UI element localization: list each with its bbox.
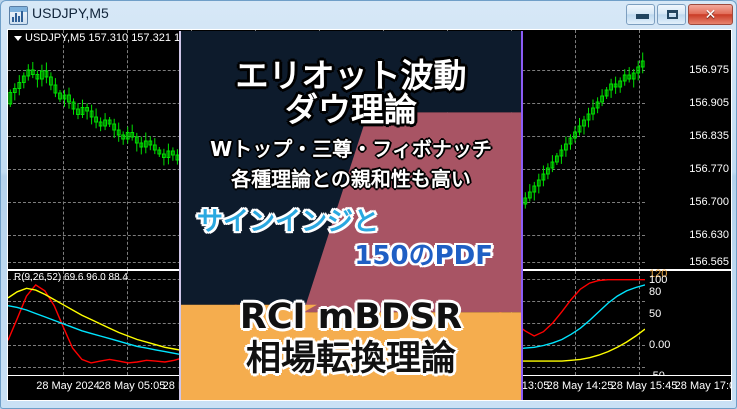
overlay-feature-1: サインインジと bbox=[181, 209, 521, 236]
price-tick-label: 156.700 bbox=[689, 196, 729, 208]
indicator-tick-label: 80 bbox=[649, 286, 661, 298]
time-tick-label: 28 May 15:45 bbox=[611, 380, 678, 392]
time-tick-label: 28 May 14:25 bbox=[547, 380, 614, 392]
chart-client-area[interactable]: USDJPY,M5 157.310 157.321 157. 156.97515… bbox=[7, 29, 732, 401]
time-tick-label: 28 May 17:05 bbox=[675, 380, 732, 392]
chevron-down-icon[interactable] bbox=[14, 36, 22, 41]
mt4-chart-window: USDJPY,M5 ✕ bbox=[0, 0, 737, 409]
close-icon: ✕ bbox=[689, 5, 732, 24]
overlay-footer-1: RCI mBDSR bbox=[181, 299, 521, 336]
price-tick-label: 156.835 bbox=[689, 130, 729, 142]
overlay-footer-2: 相場転換理論 bbox=[181, 341, 521, 378]
price-tick-label: 156.565 bbox=[689, 256, 729, 268]
maximize-button[interactable] bbox=[657, 4, 686, 25]
overlay-headline-2: ダウ理論 bbox=[181, 93, 521, 128]
time-tick-label: 28 May 05:05 bbox=[99, 380, 166, 392]
chart-symbol-label: USDJPY,M5 157.310 157.321 157. bbox=[14, 32, 195, 44]
title-bar: USDJPY,M5 ✕ bbox=[1, 1, 737, 29]
window-title: USDJPY,M5 bbox=[32, 5, 109, 21]
indicator-label: R(9,26,52) 69.6 96.0 88.4 bbox=[14, 272, 128, 283]
indicator-tick-label: 0.00 bbox=[649, 339, 670, 351]
indicator-tick-label: 50 bbox=[649, 308, 661, 320]
overlay-subline-1: Wトップ・三尊・フィボナッチ bbox=[181, 139, 521, 160]
chart-icon bbox=[9, 6, 28, 25]
maximize-icon bbox=[667, 10, 678, 19]
minimize-button[interactable] bbox=[626, 4, 655, 25]
overlay-headline-1: エリオット波動 bbox=[181, 59, 521, 94]
overlay-subline-2: 各種理論との親和性も高い bbox=[181, 169, 521, 190]
time-tick-label: 28 May 2024 bbox=[36, 380, 100, 392]
promo-overlay: エリオット波動 ダウ理論 Wトップ・三尊・フィボナッチ 各種理論との親和性も高い… bbox=[179, 31, 523, 401]
minimize-icon bbox=[636, 14, 649, 19]
overlay-feature-2: 150のPDF bbox=[181, 243, 521, 270]
close-button[interactable]: ✕ bbox=[688, 4, 733, 25]
price-tick-label: 156.770 bbox=[689, 163, 729, 175]
overlay-text-group: エリオット波動 ダウ理論 Wトップ・三尊・フィボナッチ 各種理論との親和性も高い… bbox=[181, 31, 521, 401]
indicator-tick-label: 100 bbox=[649, 274, 667, 286]
price-tick-label: 156.905 bbox=[689, 97, 729, 109]
price-tick-label: 156.975 bbox=[689, 64, 729, 76]
window-controls: ✕ bbox=[626, 4, 733, 25]
price-tick-label: 156.630 bbox=[689, 229, 729, 241]
